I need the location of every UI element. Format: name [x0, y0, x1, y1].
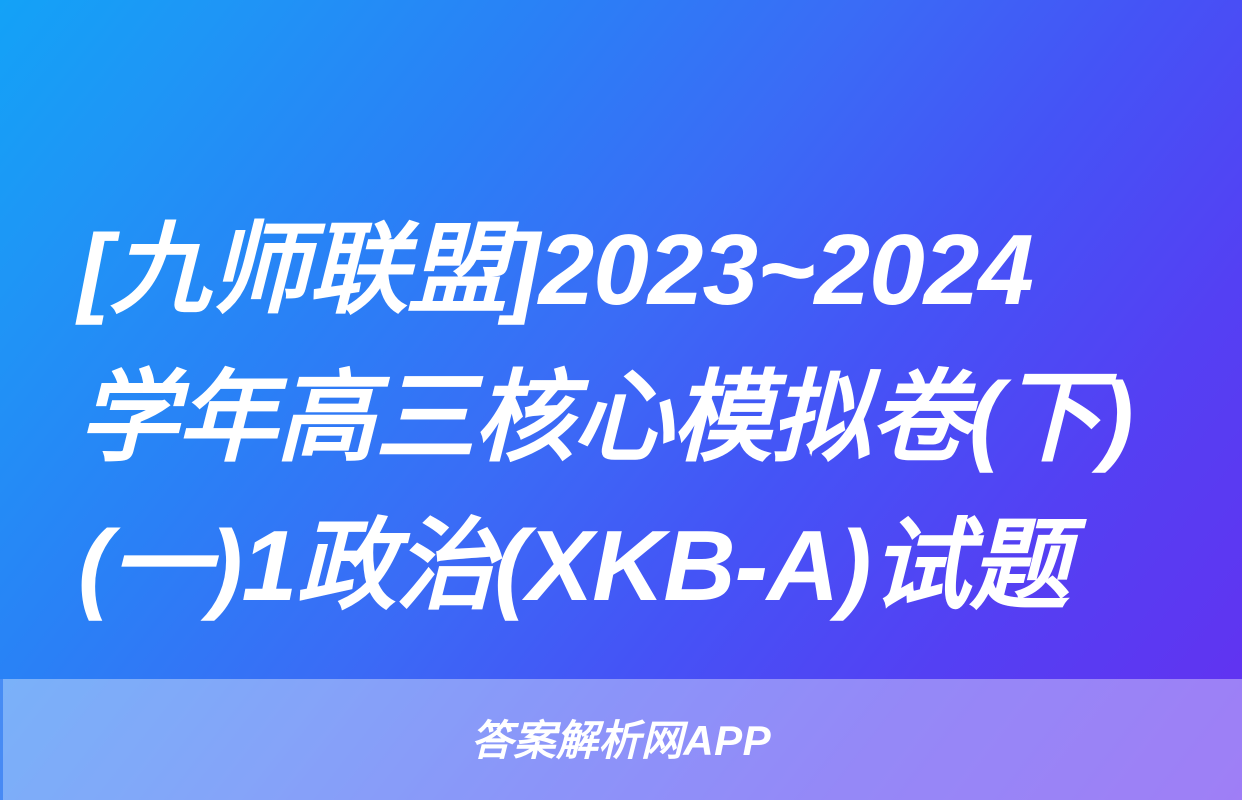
page-title: [九师联盟]2023~2024 学年高三核心模拟卷(下) (一)1政治(XKB-…: [78, 196, 1198, 640]
watermark-band: 答案解析网APP: [0, 679, 1242, 800]
exam-title-card: [九师联盟]2023~2024 学年高三核心模拟卷(下) (一)1政治(XKB-…: [0, 0, 1242, 800]
title-line-1: [九师联盟]2023~2024: [78, 196, 1198, 344]
title-line-3: (一)1政治(XKB-A)试题: [78, 492, 1198, 640]
watermark-label: 答案解析网APP: [471, 718, 771, 764]
title-line-2: 学年高三核心模拟卷(下): [78, 344, 1198, 492]
band-left-edge-accent: [0, 679, 3, 800]
